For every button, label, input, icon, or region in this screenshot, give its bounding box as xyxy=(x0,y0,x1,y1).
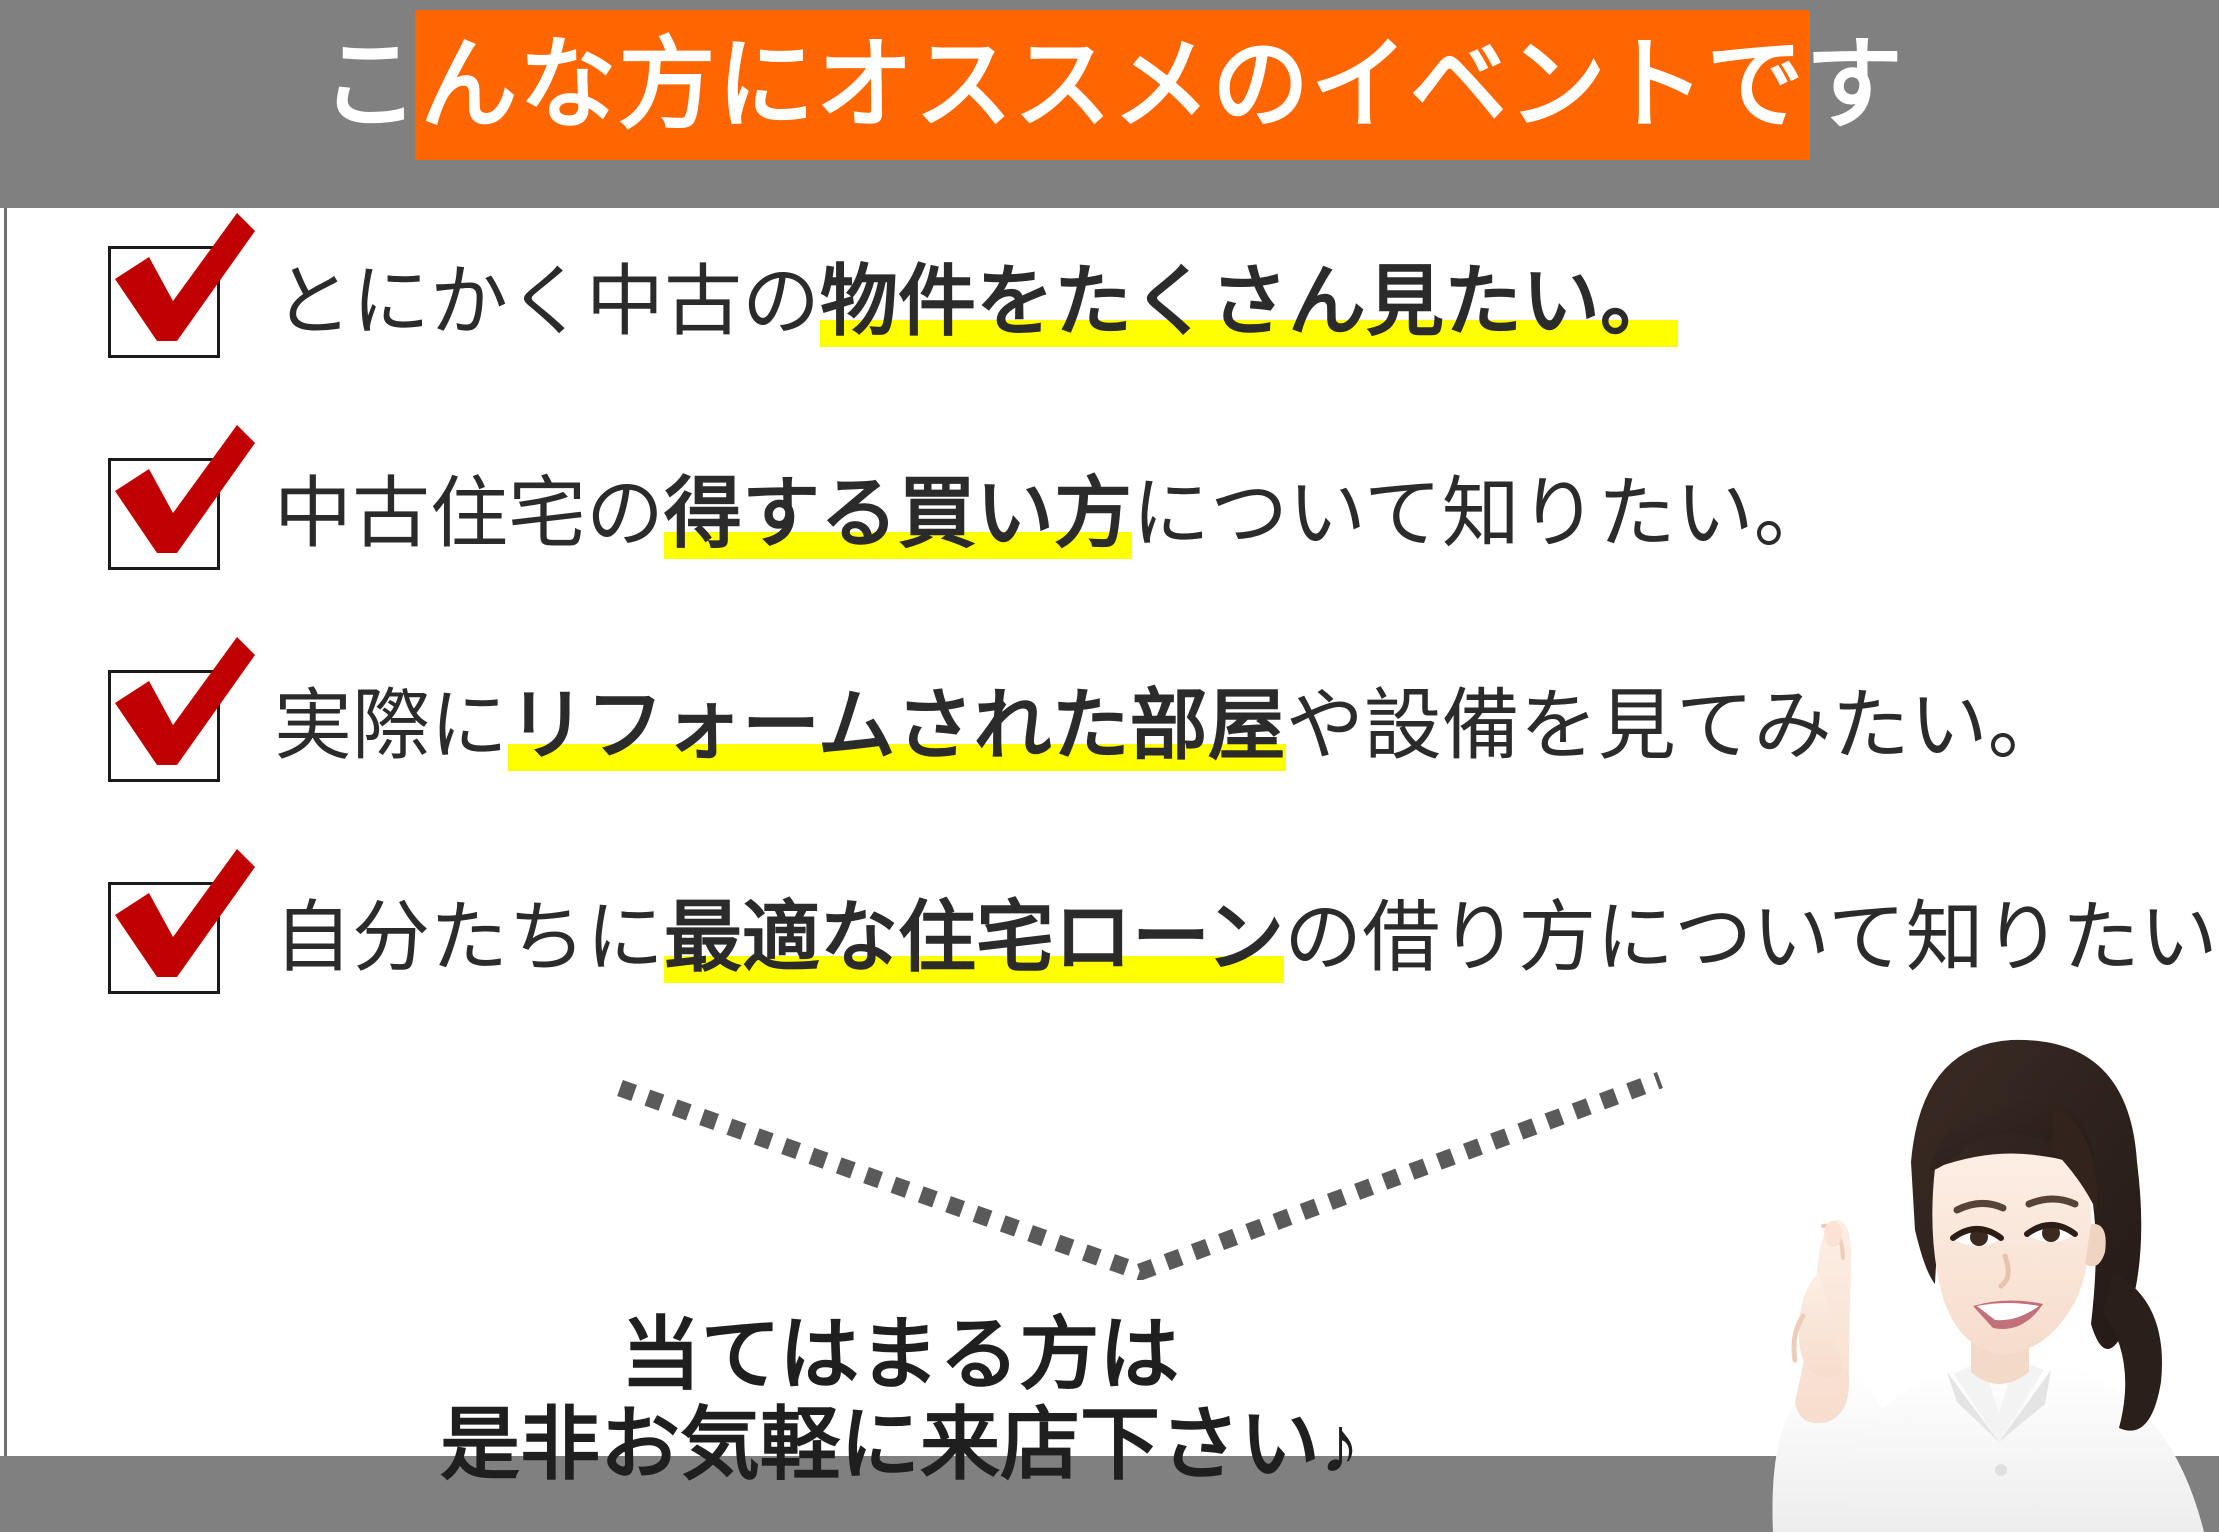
item-1-plain-before: とにかく中古の xyxy=(274,257,820,345)
checklist-item-2-text: 中古住宅の得する買い方について知りたい。 xyxy=(274,473,1832,555)
checkbox-1[interactable] xyxy=(108,246,220,358)
checklist-item-4-text: 自分たちに最適な住宅ローンの借り方について知りたい。 xyxy=(274,897,2219,979)
item-1-highlight: 物件をたくさん見たい。 xyxy=(820,257,1678,347)
checklist-item-4: 自分たちに最適な住宅ローンの借り方について知りたい。 xyxy=(0,868,2219,1008)
header-title: こんな方にオススメのイベントです xyxy=(321,35,1904,135)
checklist: とにかく中古の物件をたくさん見たい。 中古住宅の得する買い方について知りたい。 … xyxy=(0,232,2219,1080)
header-banner: こんな方にオススメのイベントです xyxy=(415,10,1810,160)
checklist-item-1-text: とにかく中古の物件をたくさん見たい。 xyxy=(274,261,1678,343)
checklist-item-3: 実際にリフォームされた部屋や設備を見てみたい。 xyxy=(0,656,2219,796)
checklist-item-2: 中古住宅の得する買い方について知りたい。 xyxy=(0,444,2219,584)
checklist-item-3-text: 実際にリフォームされた部屋や設備を見てみたい。 xyxy=(274,685,2066,767)
item-4-highlight: 最適な住宅ローン xyxy=(664,893,1284,983)
red-check-mark-icon xyxy=(97,629,257,789)
closing-line-2: 是非お気軽に来店下さい♪ xyxy=(0,1400,1800,1490)
item-2-highlight: 得する買い方 xyxy=(664,469,1132,559)
item-4-plain-after: の借り方について知りたい。 xyxy=(1284,893,2219,981)
checkbox-3[interactable] xyxy=(108,670,220,782)
red-check-mark-icon xyxy=(97,417,257,577)
red-check-mark-icon xyxy=(97,205,257,365)
checkbox-2[interactable] xyxy=(108,458,220,570)
red-check-mark-icon xyxy=(97,841,257,1001)
item-2-plain-before: 中古住宅の xyxy=(274,469,664,557)
closing-message: 当てはまる方は 是非お気軽に来店下さい♪ xyxy=(0,1310,1800,1489)
checkbox-4[interactable] xyxy=(108,882,220,994)
closing-line-1: 当てはまる方は xyxy=(0,1310,1800,1400)
item-3-plain-before: 実際に xyxy=(274,681,508,769)
item-2-plain-after: について知りたい。 xyxy=(1132,469,1832,557)
checklist-item-1: とにかく中古の物件をたくさん見たい。 xyxy=(0,232,2219,372)
poster-root: こんな方にオススメのイベントです とにかく中古の物件をたくさん見たい。 中古住宅… xyxy=(0,0,2219,1532)
dotted-chevron-down-icon xyxy=(600,1060,1680,1280)
item-3-highlight: リフォームされた部屋 xyxy=(508,681,1286,771)
item-4-plain-before: 自分たちに xyxy=(274,893,664,981)
item-3-plain-after: や設備を見てみたい。 xyxy=(1286,681,2066,769)
